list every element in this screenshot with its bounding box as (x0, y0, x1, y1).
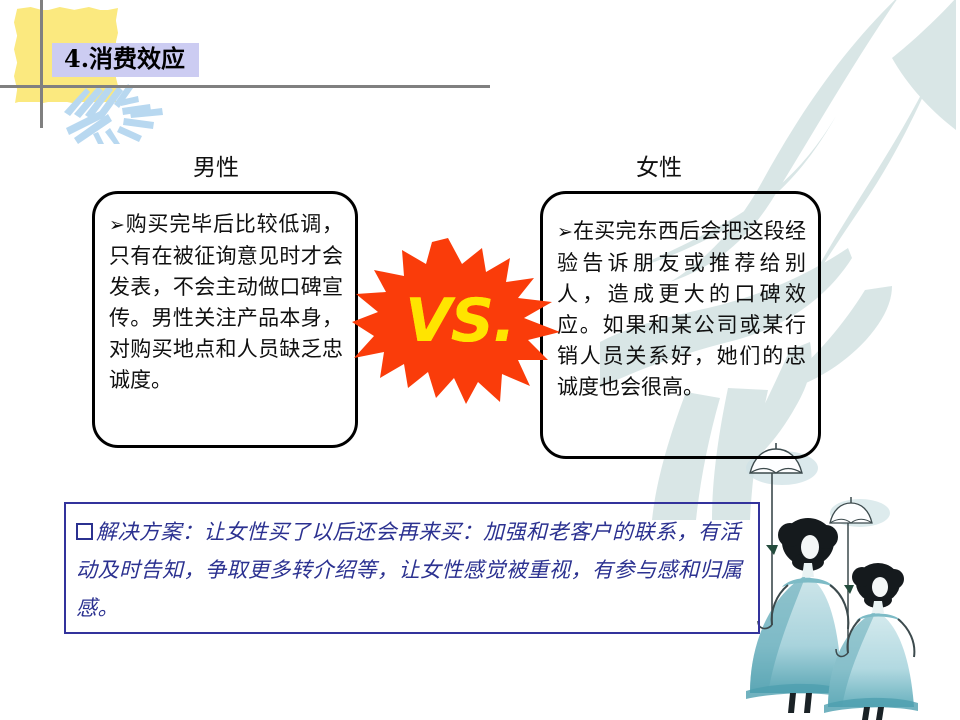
arrow-bullet-icon: ➢ (109, 214, 125, 236)
page-title: 4.消费效应 (64, 46, 185, 72)
versus-label: VS. (352, 236, 562, 406)
versus-burst: VS. (352, 236, 562, 406)
female-behavior-text: ➢在买完东西后会把这段经验告诉朋友或推荐给别人，造成更大的口碑效应。如果和某公司… (543, 194, 818, 403)
slide-title-band: 4.消费效应 (52, 43, 199, 77)
male-behavior-body: 购买完毕后比较低调，只有在被征询意见时才会发表，不会主动做口碑宣传。男性关注产品… (109, 212, 343, 392)
solution-text: 解决方案：让女性买了以后还会再来买：加强和老客户的联系，有活动及时告知，争取更多… (66, 504, 758, 627)
solution-box: 解决方案：让女性买了以后还会再来买：加强和老客户的联系，有活动及时告知，争取更多… (64, 502, 760, 634)
vertical-rule (40, 0, 43, 128)
solution-body: 解决方案：让女性买了以后还会再来买：加强和老客户的联系，有活动及时告知，争取更多… (76, 520, 743, 620)
starburst-splash-icon (58, 82, 178, 144)
horizontal-rule (0, 85, 490, 88)
label-female: 女性 (636, 148, 682, 182)
male-behavior-box: ➢购买完毕后比较低调，只有在被征询意见时才会发表，不会主动做口碑宣传。男性关注产… (92, 191, 358, 448)
male-behavior-text: ➢购买完毕后比较低调，只有在被征询意见时才会发表，不会主动做口碑宣传。男性关注产… (95, 194, 355, 396)
slide-canvas: 4.消费效应 男性 女性 ➢购买完毕后比较低调，只有在被征询意见时才会发表，不会… (0, 0, 960, 720)
female-behavior-body: 在买完东西后会把这段经验告诉朋友或推荐给别人，造成更大的口碑效应。如果和某公司或… (557, 219, 806, 399)
label-male: 男性 (193, 148, 239, 182)
female-behavior-box: ➢在买完东西后会把这段经验告诉朋友或推荐给别人，造成更大的口碑效应。如果和某公司… (540, 191, 821, 459)
square-bullet-icon (76, 523, 93, 540)
